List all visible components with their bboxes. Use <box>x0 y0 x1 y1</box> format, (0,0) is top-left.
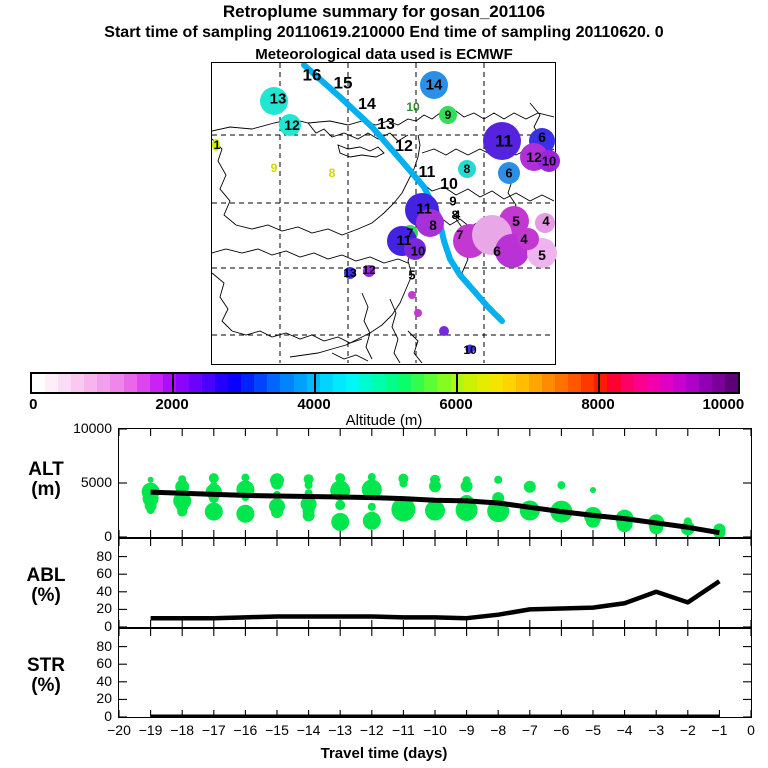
map-day-label: 5 <box>512 214 520 228</box>
colorbar-swatch <box>621 374 634 392</box>
colorbar-swatch <box>568 374 581 392</box>
map-day-label: 7 <box>457 229 464 241</box>
map-day-label: 10 <box>542 155 556 168</box>
alt-scatter-point <box>147 506 155 514</box>
colorbar-swatch <box>346 374 359 392</box>
colorbar-swatch <box>385 374 398 392</box>
colorbar-swatch <box>215 374 228 392</box>
colorbar-swatch <box>84 374 97 392</box>
plume-blob <box>408 291 416 299</box>
colorbar-separator <box>314 372 316 394</box>
colorbar-swatch <box>555 374 568 392</box>
map-day-label: 9 <box>449 195 456 208</box>
map-day-label: 14 <box>358 97 376 113</box>
map-day-label: 12 <box>284 118 300 132</box>
colorbar-separator <box>172 372 174 394</box>
colorbar-swatch <box>699 374 712 392</box>
alt-scatter-point <box>331 513 349 531</box>
plume-blob <box>439 326 449 336</box>
colorbar-swatch <box>294 374 307 392</box>
map-day-label: 8 <box>429 218 437 232</box>
colorbar-swatch <box>267 374 280 392</box>
colorbar-swatch <box>58 374 71 392</box>
map-day-label: 4 <box>454 209 461 221</box>
colorbar-swatch <box>137 374 150 392</box>
y-tick-label: 60 <box>50 565 112 581</box>
colorbar-swatch <box>464 374 477 392</box>
abl-plot-panel[interactable] <box>118 538 752 628</box>
x-tick-label: −17 <box>202 722 226 738</box>
colorbar-swatch <box>110 374 123 392</box>
x-tick-label: −5 <box>585 722 601 738</box>
map-day-label: 6 <box>505 167 512 180</box>
alt-scatter-point <box>177 507 187 517</box>
alt-scatter-point <box>494 476 502 484</box>
y-tick-label: 20 <box>50 690 112 706</box>
y-tick-label: 0 <box>50 708 112 724</box>
colorbar-swatch <box>32 374 45 392</box>
map-day-label: 6 <box>493 244 501 258</box>
y-tick-label: 80 <box>50 548 112 564</box>
page-title: Retroplume summary for gosan_201106 <box>0 2 768 22</box>
colorbar-separator <box>598 372 600 394</box>
colorbar-swatch <box>647 374 660 392</box>
x-tick-label: −9 <box>459 722 475 738</box>
colorbar-swatch <box>725 374 738 392</box>
x-tick-label: −14 <box>297 722 321 738</box>
map-day-label: 9 <box>445 109 452 121</box>
colorbar-swatch <box>594 374 607 392</box>
map-day-label: 13 <box>377 117 395 133</box>
x-tick-label: −12 <box>360 722 384 738</box>
colorbar-swatch <box>686 374 699 392</box>
alt-scatter-point <box>524 481 536 493</box>
retroplume-map[interactable]: 16 15 14 13 12 11 10 9 8 7 13 12 14 9 8 … <box>211 62 556 365</box>
x-tick-label: −1 <box>711 722 727 738</box>
colorbar-swatch <box>176 374 189 392</box>
colorbar-swatch <box>189 374 202 392</box>
alt-scatter-point <box>335 500 345 510</box>
colorbar-swatch <box>254 374 267 392</box>
y-tick-label: 40 <box>50 673 112 689</box>
map-day-label: 4 <box>520 233 527 246</box>
colorbar-swatch <box>71 374 84 392</box>
map-day-label: 14 <box>426 78 443 93</box>
x-tick-label: −4 <box>617 722 633 738</box>
colorbar-tick-label: 2000 <box>155 396 188 413</box>
colorbar-swatch <box>124 374 137 392</box>
colorbar-tick-label: 6000 <box>439 396 472 413</box>
meteorological-data-line: Meteorological data used is ECMWF <box>0 46 768 63</box>
map-day-label: 12 <box>362 264 375 276</box>
alt-scatter-point <box>590 487 596 493</box>
colorbar-swatch <box>398 374 411 392</box>
alt-scatter-point <box>148 477 154 483</box>
colorbar-swatch <box>97 374 110 392</box>
y-tick-label: 10000 <box>50 420 112 436</box>
map-day-label: 11 <box>495 133 513 150</box>
map-day-label: 5 <box>408 269 415 282</box>
colorbar-swatch <box>673 374 686 392</box>
alt-scatter-point <box>303 509 315 521</box>
colorbar-tick-label: 8000 <box>581 396 614 413</box>
colorbar-swatch <box>490 374 503 392</box>
alt-scatter-point <box>399 480 407 488</box>
colorbar-swatch <box>660 374 673 392</box>
map-day-label: 13 <box>270 92 287 107</box>
alt-scatter-point <box>368 503 376 511</box>
alt-scatter-point <box>271 506 283 518</box>
series-line <box>151 581 720 618</box>
alt-scatter-point <box>236 505 254 523</box>
colorbar-tick-label: 10000 <box>702 396 744 413</box>
map-day-label: 6 <box>538 130 546 144</box>
map-day-label: 11 <box>419 165 436 181</box>
alt-scatter-point <box>557 481 565 489</box>
x-tick-label: −18 <box>170 722 194 738</box>
colorbar-swatch <box>333 374 346 392</box>
colorbar-tick-label: 4000 <box>297 396 330 413</box>
map-day-label: 11 <box>416 202 432 217</box>
alt-plot-panel[interactable] <box>118 428 752 538</box>
map-day-label: 13 <box>343 267 356 279</box>
x-tick-label: −20 <box>107 722 131 738</box>
y-tick-label: 60 <box>50 655 112 671</box>
plume-blob <box>414 309 422 317</box>
str-plot-panel[interactable] <box>118 628 752 718</box>
map-day-label: 9 <box>271 162 278 174</box>
colorbar-swatch <box>359 374 372 392</box>
colorbar-swatch <box>542 374 555 392</box>
map-day-label: 8 <box>329 167 336 179</box>
colorbar-swatch <box>634 374 647 392</box>
abl-plot-canvas <box>119 539 751 627</box>
x-tick-label: 0 <box>747 722 755 738</box>
colorbar-swatch <box>529 374 542 392</box>
colorbar-swatch <box>280 374 293 392</box>
map-day-label: 8 <box>464 163 471 175</box>
x-tick-label: −2 <box>680 722 696 738</box>
colorbar-title: Altitude (m) <box>0 412 768 429</box>
alt-scatter-point <box>461 480 473 492</box>
alt-scatter-point <box>305 481 313 489</box>
y-tick-label: 5000 <box>50 474 112 490</box>
map-day-label: 10 <box>440 177 458 193</box>
alt-scatter-point <box>209 473 219 483</box>
x-tick-label: −10 <box>423 722 447 738</box>
map-day-label: 10 <box>411 245 425 258</box>
colorbar-swatch <box>581 374 594 392</box>
alt-scatter-point <box>429 480 441 492</box>
alt-plot-canvas <box>119 429 751 537</box>
trajectory-line <box>304 65 502 321</box>
y-tick-label: 40 <box>50 583 112 599</box>
x-tick-label: −7 <box>522 722 538 738</box>
x-tick-label: −15 <box>265 722 289 738</box>
colorbar-swatch <box>437 374 450 392</box>
y-tick-label: 20 <box>50 600 112 616</box>
x-tick-label: −16 <box>234 722 258 738</box>
map-day-label: 1 <box>214 139 221 151</box>
colorbar-swatch <box>45 374 58 392</box>
colorbar-swatch <box>607 374 620 392</box>
alt-scatter-point <box>425 501 445 521</box>
colorbar-swatch <box>320 374 333 392</box>
colorbar-swatch <box>477 374 490 392</box>
x-tick-label: −19 <box>139 722 163 738</box>
colorbar-swatch <box>228 374 241 392</box>
colorbar-swatch <box>241 374 254 392</box>
altitude-colorbar[interactable] <box>30 372 740 394</box>
x-tick-label: −6 <box>553 722 569 738</box>
colorbar-swatch <box>712 374 725 392</box>
colorbar-swatch <box>411 374 424 392</box>
y-tick-label: 0 <box>50 528 112 544</box>
colorbar-swatch <box>424 374 437 392</box>
map-day-label: 12 <box>395 139 413 155</box>
colorbar-swatch <box>516 374 529 392</box>
x-tick-label: −3 <box>648 722 664 738</box>
colorbar-swatch <box>150 374 163 392</box>
colorbar-swatch <box>372 374 385 392</box>
colorbar-tick-label: 0 <box>29 396 37 413</box>
str-plot-canvas <box>119 629 751 717</box>
x-tick-label: −8 <box>490 722 506 738</box>
map-day-label: 12 <box>526 150 542 164</box>
map-day-label: 5 <box>538 248 546 262</box>
map-day-label: 11 <box>397 233 412 247</box>
colorbar-separator <box>456 372 458 394</box>
alt-scatter-point <box>363 512 381 530</box>
colorbar-swatch <box>503 374 516 392</box>
map-day-label: 16 <box>303 67 322 84</box>
map-day-label: 15 <box>334 75 353 92</box>
map-day-label: 10 <box>463 344 476 356</box>
sampling-time-line: Start time of sampling 20110619.210000 E… <box>0 24 768 42</box>
alt-scatter-point <box>205 503 223 521</box>
y-tick-label: 80 <box>50 638 112 654</box>
map-day-label: 10 <box>406 101 419 113</box>
y-tick-label: 0 <box>50 618 112 634</box>
x-tick-label: −13 <box>328 722 352 738</box>
x-axis-title: Travel time (days) <box>0 745 768 762</box>
x-tick-label: −11 <box>392 722 415 738</box>
colorbar-swatch <box>202 374 215 392</box>
map-day-label: 4 <box>542 215 549 228</box>
alt-scatter-point <box>271 478 283 490</box>
